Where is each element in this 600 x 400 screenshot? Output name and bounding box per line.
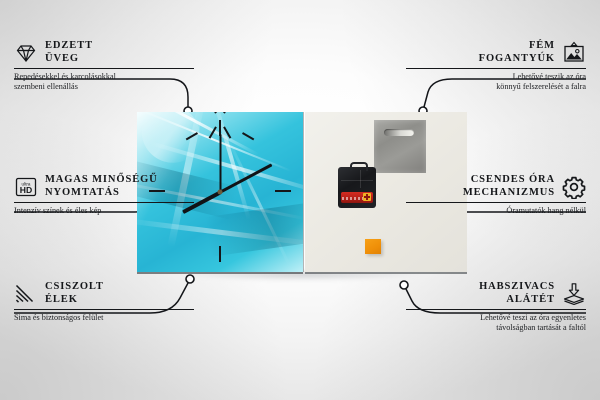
callout-high-quality-print[interactable]: ultra HD MAGAS MINŐSÉGŰ NYOMTATÁS Intenz… [14,174,194,216]
svg-text:HD: HD [20,185,32,195]
callout-subtitle: Lehetővé teszi az óra egyenletes távolsá… [406,313,586,334]
mechanism-seam [360,170,361,188]
infographic-canvas: EDZETT ÜVEG Repedésekkel és karcolásokka… [0,0,600,400]
press-pad-icon [562,282,586,306]
hanger-slot [384,129,414,136]
orange-foam-pad [365,239,381,254]
callout-silent-mechanism[interactable]: CSENDES ÓRA MECHANIZMUS Óramutatók hang … [406,174,586,216]
aa-battery [341,192,373,203]
callout-subtitle: Intenzív színek és éles kép [14,206,194,216]
clock-tick [275,190,291,192]
gear-icon [562,175,586,199]
callout-title: FÉM FOGANTYÚK [479,40,555,65]
wall-mount-frame-icon [562,41,586,65]
mechanism-seam [341,180,373,181]
callout-subtitle: Lehetővé teszik az óra könnyű felszerelé… [406,72,586,93]
callout-polished-edges[interactable]: CSISZOLT ÉLEK Sima és biztonságos felüle… [14,281,194,323]
callout-title: HABSZIVACS ALÁTÉT [479,281,555,306]
callout-title: MAGAS MINŐSÉGŰ NYOMTATÁS [45,174,158,199]
ultra-hd-icon: ultra HD [14,175,38,199]
metal-hanger-plate [374,120,426,173]
callout-rule [406,68,586,69]
battery-stripe [342,197,364,200]
callout-subtitle: Repedésekkel és karcolásokkal szembeni e… [14,72,194,93]
callout-subtitle: Óramutatók hang nélkül [406,206,586,216]
callout-metal-handles[interactable]: FÉM FOGANTYÚK Lehetővé teszik az óra kön… [406,40,586,93]
quartz-mechanism [338,167,376,208]
battery-plus-terminal [363,193,371,201]
clock-center-hub [218,190,223,195]
callout-rule [406,309,586,310]
mechanism-lug [350,162,368,171]
callout-title: EDZETT ÜVEG [45,40,93,65]
callout-tempered-glass[interactable]: EDZETT ÜVEG Repedésekkel és karcolásokka… [14,40,194,93]
clock-second-hand [220,134,222,192]
callout-subtitle: Sima és biztonságos felület [14,313,194,323]
clock-tick [219,246,221,262]
polished-edges-icon [14,282,38,306]
callout-rule [14,202,194,203]
callout-title: CSISZOLT ÉLEK [45,281,104,306]
callout-rule [14,68,194,69]
diamond-icon [14,41,38,65]
callout-title: CSENDES ÓRA MECHANIZMUS [463,174,555,199]
callout-rule [406,202,586,203]
callout-rule [14,309,194,310]
callout-foam-pad[interactable]: HABSZIVACS ALÁTÉT Lehetővé teszi az óra … [406,281,586,334]
